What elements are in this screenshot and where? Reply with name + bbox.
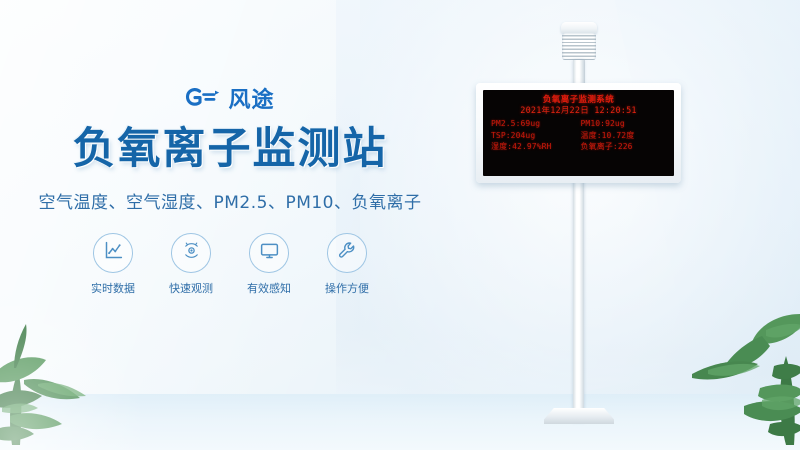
led-reading-temperature: 温度:10.72度: [581, 130, 667, 142]
led-screen: 负氧离子监测系统 2021年12月22日 12:20:51 PM2.5:69ug…: [483, 90, 674, 176]
radar-observation-icon: [181, 240, 202, 266]
led-display-title: 负氧离子监测系统: [491, 95, 666, 106]
brand-logo: 风途: [0, 86, 460, 116]
feature-icon-ring: [327, 233, 367, 273]
feature-label: 操作方便: [325, 280, 369, 296]
monitor-screen-icon: [259, 240, 280, 266]
hero-text-block: 风途 负氧离子监测站 空气温度、空气湿度、PM2.5、PM10、负氧离子: [0, 86, 460, 296]
feature-icon-ring: [93, 233, 133, 273]
feature-item-easy-operation[interactable]: 操作方便: [319, 233, 375, 296]
monitoring-station-device: 负氧离子监测系统 2021年12月22日 12:20:51 PM2.5:69ug…: [452, 0, 712, 450]
led-reading-pm10: PM10:92ug: [581, 118, 667, 130]
led-reading-tsp: TSP:204ug: [491, 130, 577, 142]
feature-item-effective-sensing[interactable]: 有效感知: [241, 233, 297, 296]
feature-list: 实时数据 快速观测: [0, 233, 460, 296]
wind-swoosh-logo-icon: [185, 87, 221, 116]
page-title: 负氧离子监测站: [0, 127, 460, 172]
hero-subtitle: 空气温度、空气湿度、PM2.5、PM10、负氧离子: [0, 188, 460, 213]
sensor-louver-plates: [562, 33, 596, 60]
led-display-panel[interactable]: 负氧离子监测系统 2021年12月22日 12:20:51 PM2.5:69ug…: [476, 83, 681, 183]
feature-item-fast-observation[interactable]: 快速观测: [163, 233, 219, 296]
led-reading-pm25: PM2.5:69ug: [491, 118, 577, 130]
pole-base-flange-icon: [544, 408, 614, 424]
brand-name: 风途: [228, 90, 274, 112]
feature-item-realtime-data[interactable]: 实时数据: [85, 233, 141, 296]
feature-label: 实时数据: [91, 280, 135, 296]
led-display-datetime: 2021年12月22日 12:20:51: [491, 106, 666, 117]
feature-icon-ring: [249, 233, 289, 273]
led-reading-negative-oxygen-ion: 负氧离子:226: [581, 141, 667, 153]
feature-label: 快速观测: [169, 280, 213, 296]
line-chart-icon: [103, 240, 124, 266]
feature-icon-ring: [171, 233, 211, 273]
banner-stage: 风途 负氧离子监测站 空气温度、空气湿度、PM2.5、PM10、负氧离子: [0, 0, 800, 450]
led-reading-humidity: 湿度:42.97%RH: [491, 141, 577, 153]
sensor-cap: [561, 22, 597, 33]
wrench-tool-icon: [337, 240, 358, 266]
corner-light-fade: [0, 280, 150, 450]
feature-label: 有效感知: [247, 280, 291, 296]
led-readings-grid: PM2.5:69ug PM10:92ug TSP:204ug 温度:10.72度…: [491, 118, 666, 153]
green-leaf-plant-icon: [0, 280, 144, 450]
